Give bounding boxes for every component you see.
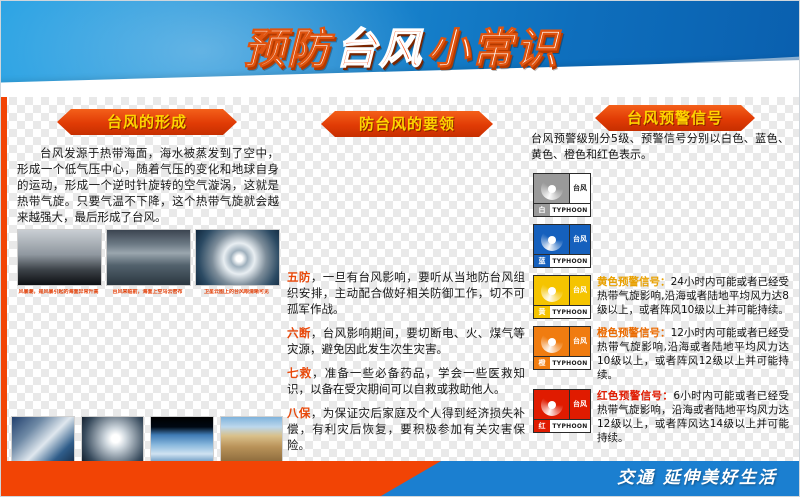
formation-photo-row: 风暴潮，是风暴引起的海面异常升高 台风来临前，海面上空乌云密布 卫星云图上的台风… xyxy=(17,229,279,296)
signal-icon-white: 台风 白 TYPHOON xyxy=(533,173,591,217)
typhoon-spiral-icon xyxy=(534,327,569,356)
signal-description: 红色预警信号：6小时内可能或者已经受热带气旋影响，沿海或者陆地平均风力达12级以… xyxy=(591,389,789,445)
tip-label: 八保 xyxy=(287,406,311,420)
signal-icon-red: 台风 红 TYPHOON xyxy=(533,389,591,433)
ribbon-warning-signals: 台风预警信号 xyxy=(595,105,755,131)
signal-english-label: TYPHOON xyxy=(550,207,590,214)
formation-photo-row-bottom xyxy=(11,416,283,463)
signal-label: 黄色预警信号： xyxy=(597,276,671,288)
tip-label: 七救 xyxy=(287,366,312,380)
title-part-2: 台风 xyxy=(331,19,427,79)
title-part-1: 预防 xyxy=(243,19,331,79)
signal-row-blue: 台风 蓝 TYPHOON xyxy=(533,224,789,268)
tip-item: 七救，准备一些必备药品，学会一些医救知识，以备在受灾期间可以自救或救助他人。 xyxy=(287,365,525,397)
tip-text: ，台风影响期间，要切断电、火、煤气等灾源，避免因此发生次生灾害。 xyxy=(287,326,525,356)
tip-text: ，准备一些必备药品，学会一些医救知识，以备在受灾期间可以自救或救助他人。 xyxy=(287,366,525,396)
signal-color-char: 蓝 xyxy=(534,255,550,267)
warning-intro-text: 台风预警级别分5级、预警信号分别以白色、蓝色、黄色、橙色和红色表示。 xyxy=(531,131,789,163)
formation-body: 台风发源于热带海面，海水被蒸发到了空中，形成一个低气压中心，随着气压的变化和地球… xyxy=(17,145,279,225)
signal-cn-label: 台风 xyxy=(569,276,590,305)
left-accent-band xyxy=(1,97,7,463)
prevention-tips-list: 五防，一旦有台风影响，要听从当地防台风组织安排，主动配合做好相关防御工作，切不可… xyxy=(287,269,525,461)
signal-description: 橙色预警信号：12小时内可能或者已经受热带气旋影响,沿海或者陆地平均风力达10级… xyxy=(591,326,789,382)
signal-label: 橙色预警信号： xyxy=(597,327,671,339)
photo-dust-storm xyxy=(220,416,284,463)
signal-cn-label: 台风 xyxy=(569,174,590,203)
tip-label: 五防 xyxy=(287,270,311,284)
poster-root: 预防台风小常识 台风的形成 台风发源于热带海面，海水被蒸发到了空中，形成一个低气… xyxy=(0,0,800,497)
signal-english-label: TYPHOON xyxy=(550,360,590,367)
signal-cn-label: 台风 xyxy=(569,225,590,254)
tip-item: 五防，一旦有台风影响，要听从当地防台风组织安排，主动配合做好相关防御工作，切不可… xyxy=(287,269,525,317)
signal-cn-label: 台风 xyxy=(569,327,590,356)
warning-signal-list: 台风 白 TYPHOON 台风 蓝 TYPHOON xyxy=(533,173,789,452)
ribbon-formation: 台风的形成 xyxy=(57,109,237,135)
footer-slogan: 交通 延伸美好生活 xyxy=(617,461,777,496)
signal-color-char: 红 xyxy=(534,420,550,432)
photo-caption: 台风来临前，海面上空乌云密布 xyxy=(106,289,189,296)
page-title: 预防台风小常识 xyxy=(1,19,800,79)
photo-item: 风暴潮，是风暴引起的海面异常升高 xyxy=(17,229,100,296)
tip-label: 六断 xyxy=(287,326,311,340)
signal-description: 黄色预警信号：24小时内可能或者已经受热带气旋影响,沿海或者陆地平均风力达8级以… xyxy=(591,275,789,317)
photo-storm-image xyxy=(17,229,102,286)
signal-row-orange: 台风 橙 TYPHOON 橙色预警信号：12小时内可能或者已经受热带气旋影响,沿… xyxy=(533,326,789,382)
photo-item: 台风来临前，海面上空乌云密布 xyxy=(106,229,189,296)
photo-sea-image xyxy=(106,229,191,286)
signal-cn-label: 台风 xyxy=(569,390,590,419)
signal-english-label: TYPHOON xyxy=(550,423,590,430)
signal-label: 红色预警信号： xyxy=(597,390,673,402)
signal-color-char: 白 xyxy=(534,204,550,216)
signal-color-char: 橙 xyxy=(534,357,550,369)
signal-english-label: TYPHOON xyxy=(550,309,590,316)
typhoon-spiral-icon xyxy=(534,390,569,419)
photo-satellite-1 xyxy=(11,416,75,463)
footer-bar: 交通 延伸美好生活 xyxy=(1,461,800,496)
signal-color-char: 黄 xyxy=(534,306,550,318)
ribbon-prevention: 防台风的要领 xyxy=(321,111,493,137)
signal-icon-yellow: 台风 黄 TYPHOON xyxy=(533,275,591,319)
tip-text: ，一旦有台风影响，要听从当地防台风组织安排，主动配合做好相关防御工作，切不可孤军… xyxy=(287,270,525,316)
title-part-3: 小常识 xyxy=(427,19,559,79)
tip-item: 六断，台风影响期间，要切断电、火、煤气等灾源，避免因此发生次生灾害。 xyxy=(287,325,525,357)
photo-satellite-2 xyxy=(81,416,145,463)
photo-caption: 卫星云图上的台风眼清晰可见 xyxy=(195,289,278,296)
typhoon-spiral-icon xyxy=(534,174,569,203)
tip-text: ，为保证灾后家庭及个人得到经济损失补偿，有利灾后恢复，要积极参加有关灾害保险。 xyxy=(287,406,525,452)
signal-icon-orange: 台风 橙 TYPHOON xyxy=(533,326,591,370)
photo-item: 卫星云图上的台风眼清晰可见 xyxy=(195,229,278,296)
signal-row-red: 台风 红 TYPHOON 红色预警信号：6小时内可能或者已经受热带气旋影响，沿海… xyxy=(533,389,789,445)
signal-row-white: 台风 白 TYPHOON xyxy=(533,173,789,217)
signal-english-label: TYPHOON xyxy=(550,258,590,265)
photo-typhoon-eye-image xyxy=(195,229,280,286)
signal-row-yellow: 台风 黄 TYPHOON 黄色预警信号：24小时内可能或者已经受热带气旋影响,沿… xyxy=(533,275,789,319)
typhoon-spiral-icon xyxy=(534,276,569,305)
photo-caption: 风暴潮，是风暴引起的海面异常升高 xyxy=(17,289,100,296)
tip-item: 八保，为保证灾后家庭及个人得到经济损失补偿，有利灾后恢复，要积极参加有关灾害保险… xyxy=(287,405,525,453)
photo-earth-limb xyxy=(150,416,214,463)
formation-text-block: 台风发源于热带海面，海水被蒸发到了空中，形成一个低气压中心，随着气压的变化和地球… xyxy=(17,145,279,225)
signal-icon-blue: 台风 蓝 TYPHOON xyxy=(533,224,591,268)
typhoon-spiral-icon xyxy=(534,225,569,254)
